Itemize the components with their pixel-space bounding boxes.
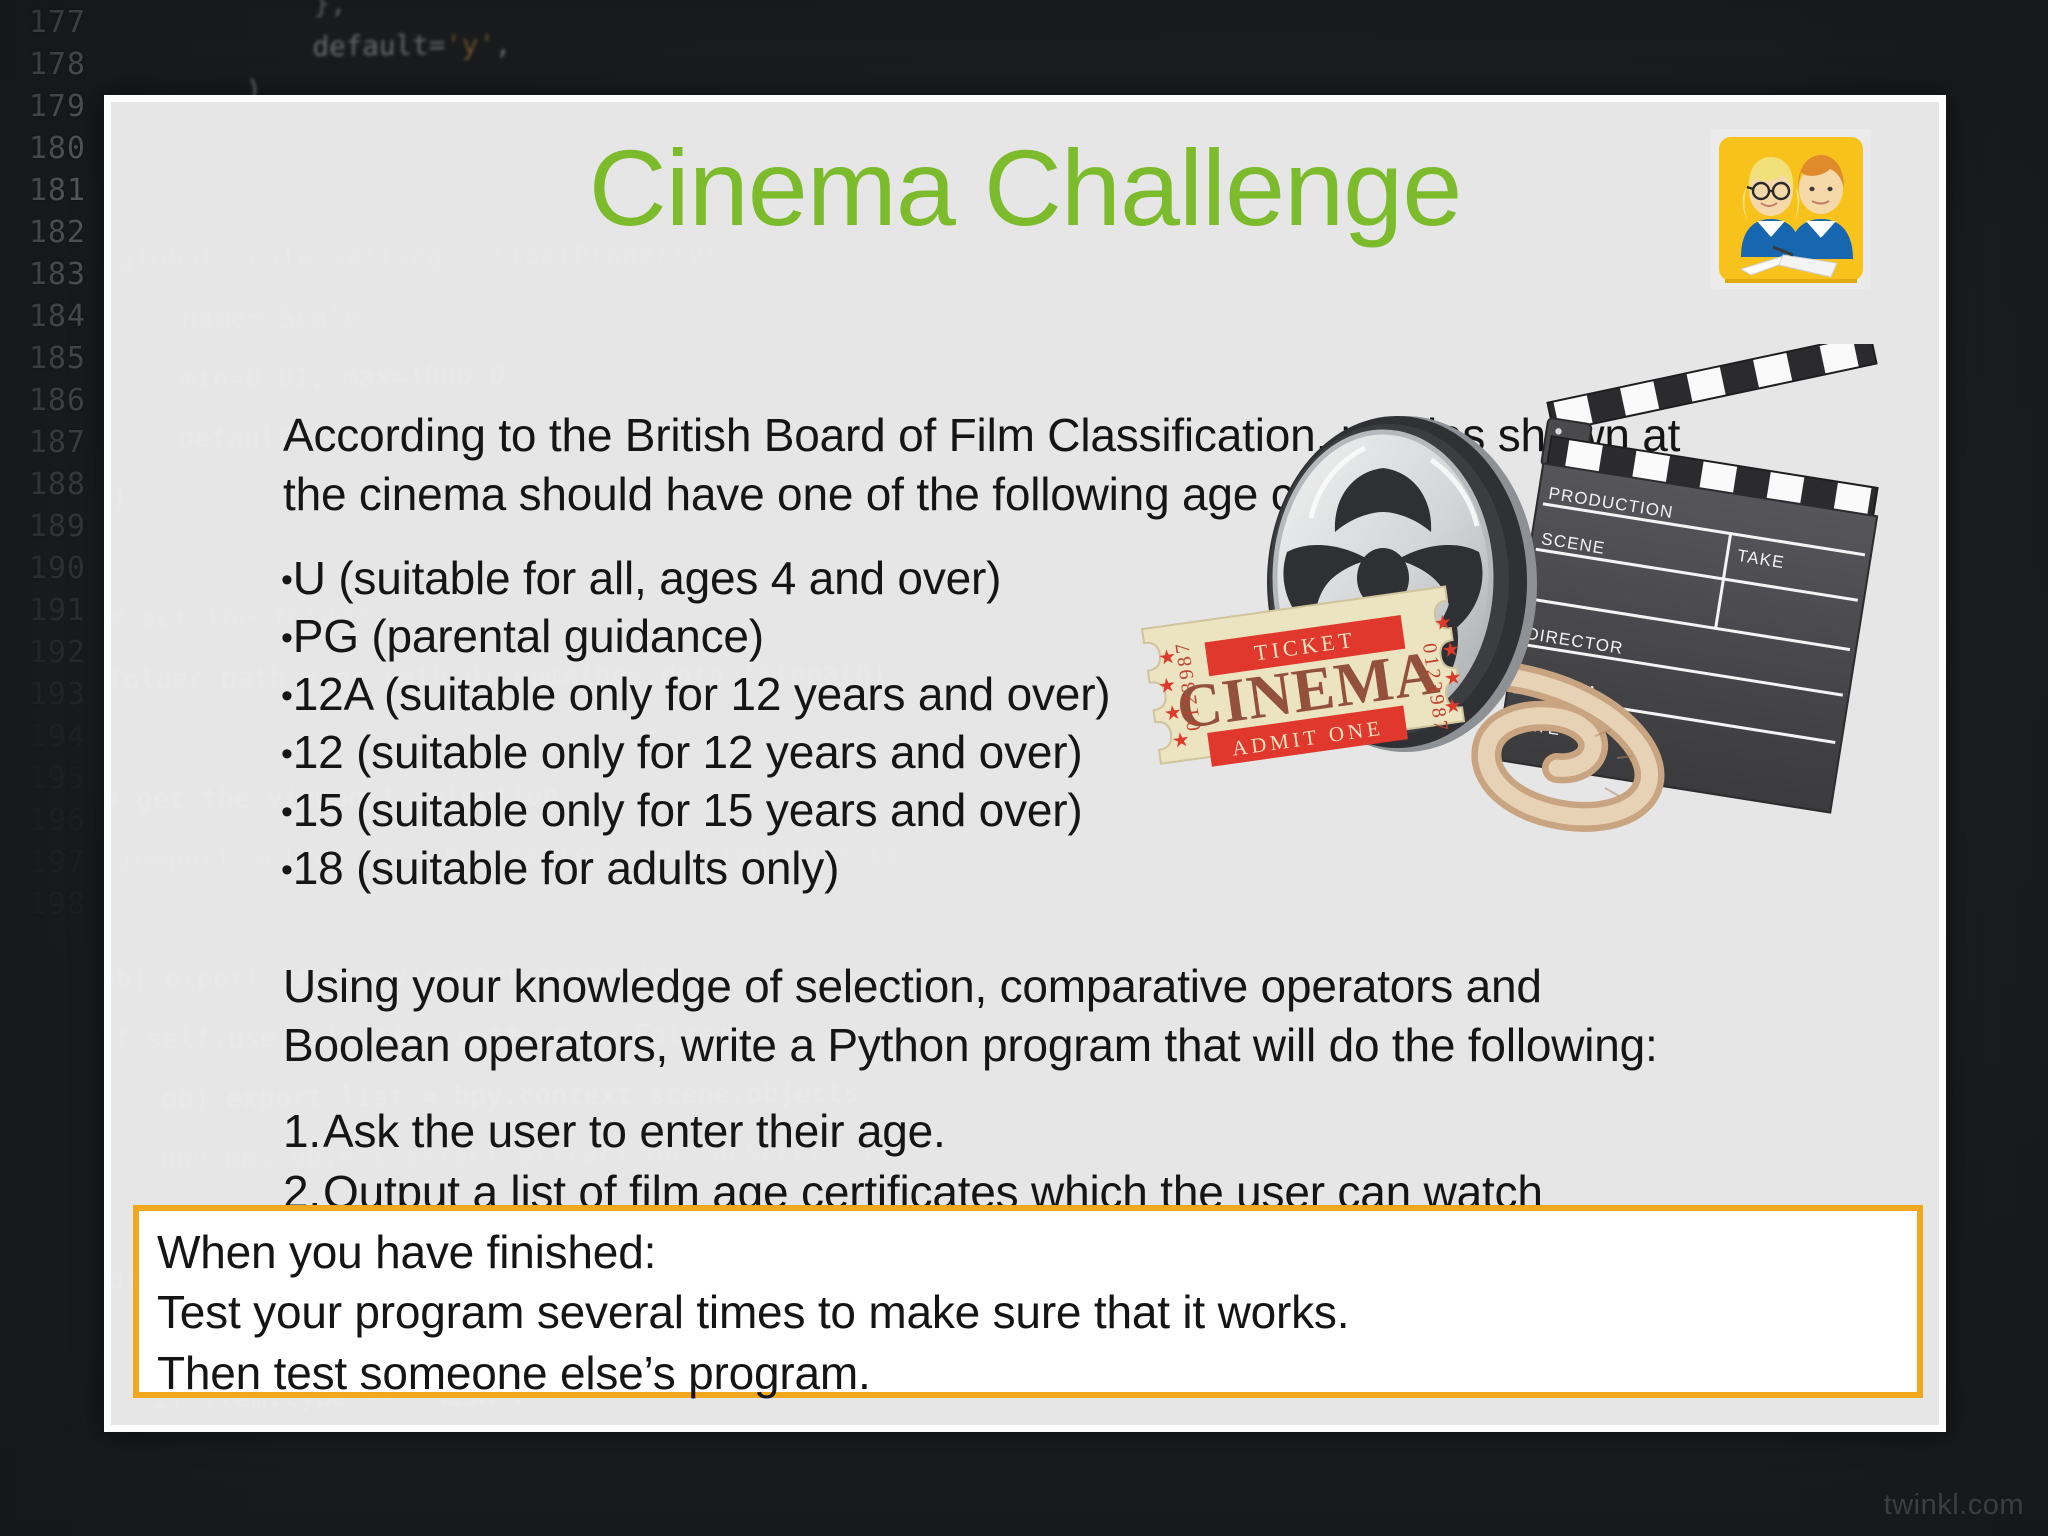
code-line-number: 192 bbox=[0, 632, 104, 674]
code-line-number: 181 bbox=[0, 170, 104, 212]
certificate-label: 12 (suitable only for 12 years and over) bbox=[293, 726, 1083, 778]
instruction-paragraph: Using your knowledge of selection, compa… bbox=[283, 957, 1843, 1075]
code-line-number: 186 bbox=[0, 380, 104, 422]
bullet-dot-icon: • bbox=[281, 851, 293, 889]
bullet-dot-icon: • bbox=[281, 561, 293, 599]
clapper-label-director: DIRECTOR bbox=[1525, 624, 1625, 658]
code-line-number: 194 bbox=[0, 716, 104, 758]
code-line-number-gutter: 1771781791801811821831841851861871881891… bbox=[0, 0, 104, 1536]
bullet-dot-icon: • bbox=[281, 735, 293, 773]
slide-content: Cinema Challenge bbox=[111, 102, 1939, 1425]
certificate-label: 18 (suitable for adults only) bbox=[293, 842, 840, 894]
step-item: 1.Ask the user to enter their age. bbox=[283, 1102, 1843, 1161]
ticket-stars-right: ★★ ★★ bbox=[1431, 610, 1469, 718]
paired-work-students-icon bbox=[1711, 129, 1871, 289]
code-line-number: 198 bbox=[0, 884, 104, 926]
code-line-number: 190 bbox=[0, 548, 104, 590]
certificate-bullet: •12A (suitable only for 12 years and ove… bbox=[281, 666, 1381, 724]
step-number: 1. bbox=[283, 1102, 323, 1161]
clapper-label-take: TAKE bbox=[1736, 546, 1786, 572]
paired-work-students-svg bbox=[1711, 129, 1871, 289]
code-line-number: 184 bbox=[0, 296, 104, 338]
code-line-number: 179 bbox=[0, 86, 104, 128]
svg-text:★: ★ bbox=[1442, 666, 1463, 690]
code-line-number: 188 bbox=[0, 464, 104, 506]
code-line-number: 191 bbox=[0, 590, 104, 632]
finished-line-1: When you have finished: bbox=[157, 1228, 1917, 1276]
certificate-bullet: •18 (suitable for adults only) bbox=[281, 840, 1381, 898]
code-line-number: 177 bbox=[0, 2, 104, 44]
code-line-number: 185 bbox=[0, 338, 104, 380]
bullet-dot-icon: • bbox=[281, 619, 293, 657]
instruction-line-1: Using your knowledge of selection, compa… bbox=[283, 957, 1843, 1016]
page-title: Cinema Challenge bbox=[111, 130, 1939, 247]
certificate-bullet: •U (suitable for all, ages 4 and over) bbox=[281, 550, 1381, 608]
intro-line-1: According to the British Board of Film C… bbox=[283, 406, 1843, 465]
bullet-dot-icon: • bbox=[281, 677, 293, 715]
code-line-number: 182 bbox=[0, 212, 104, 254]
instruction-line-2: Boolean operators, write a Python progra… bbox=[283, 1016, 1843, 1075]
svg-text:★: ★ bbox=[1442, 694, 1463, 718]
clapper-label-camera: CAMERA bbox=[1518, 671, 1600, 702]
code-line-number: 197 bbox=[0, 842, 104, 884]
clapper-label-scene: SCENE bbox=[1540, 529, 1607, 558]
bullet-dot-icon: • bbox=[281, 793, 293, 831]
certificate-bullet: •PG (parental guidance) bbox=[281, 608, 1381, 666]
code-line-number: 189 bbox=[0, 506, 104, 548]
certificate-label: 15 (suitable only for 15 years and over) bbox=[293, 784, 1083, 836]
code-line-number: 183 bbox=[0, 254, 104, 296]
when-you-have-finished-box: When you have finished: Test your progra… bbox=[133, 1205, 1923, 1398]
certificate-bullet: •12 (suitable only for 12 years and over… bbox=[281, 724, 1381, 782]
code-line-number: 187 bbox=[0, 422, 104, 464]
ticket-serial-right: 0123987 bbox=[1418, 642, 1452, 735]
slide-card: global_scale_setting = FloatProperty( na… bbox=[104, 95, 1946, 1432]
svg-text:★: ★ bbox=[1441, 638, 1462, 662]
finished-line-3: Then test someone else’s program. bbox=[157, 1349, 1917, 1397]
code-line-number: 195 bbox=[0, 758, 104, 800]
certificates-list: •U (suitable for all, ages 4 and over)•P… bbox=[281, 550, 1381, 898]
code-line-number: 193 bbox=[0, 674, 104, 716]
clapper-label-date: DATE bbox=[1511, 713, 1562, 739]
certificate-label: U (suitable for all, ages 4 and over) bbox=[293, 552, 1002, 604]
intro-line-2: the cinema should have one of the follow… bbox=[283, 465, 1843, 524]
code-line-number: 196 bbox=[0, 800, 104, 842]
film-strip-icon bbox=[1485, 674, 1650, 817]
certificate-label: PG (parental guidance) bbox=[293, 610, 764, 662]
step-text: Ask the user to enter their age. bbox=[323, 1102, 1843, 1161]
code-line-number: 180 bbox=[0, 128, 104, 170]
twinkl-watermark: twinkl.com bbox=[1884, 1489, 2024, 1522]
svg-text:★: ★ bbox=[1433, 611, 1454, 635]
finished-line-2: Test your program several times to make … bbox=[157, 1288, 1917, 1336]
certificate-label: 12A (suitable only for 12 years and over… bbox=[293, 668, 1111, 720]
certificate-bullet: •15 (suitable only for 15 years and over… bbox=[281, 782, 1381, 840]
step-text-wrap: Ask the user to enter their age. bbox=[323, 1102, 1843, 1161]
code-line-number: 178 bbox=[0, 44, 104, 86]
intro-paragraph: According to the British Board of Film C… bbox=[283, 406, 1843, 524]
